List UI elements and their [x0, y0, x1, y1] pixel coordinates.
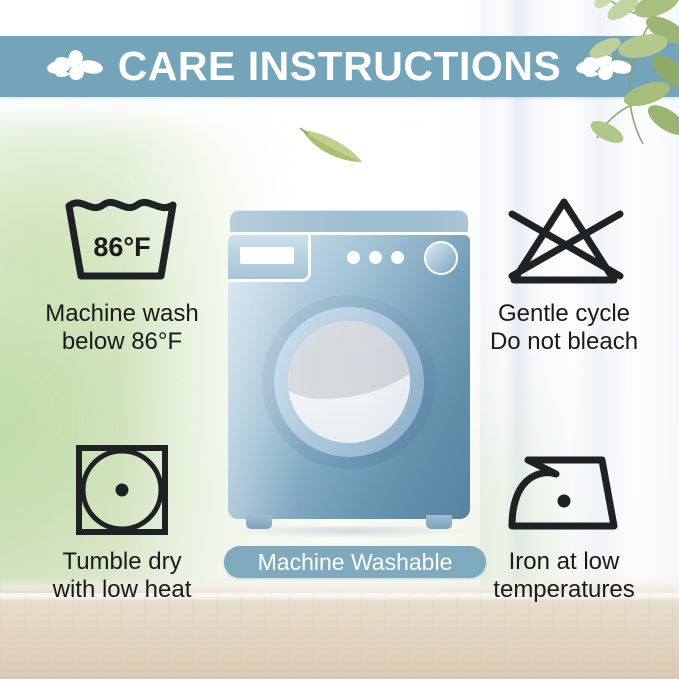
- washer-top-panel: [230, 210, 468, 232]
- no-bleach-triangle-icon: [450, 192, 678, 292]
- care-symbol-caption: Machine wash below 86°F: [8, 300, 236, 357]
- fleur-de-lis-icon-right: [575, 44, 633, 90]
- wash-temperature-value: 86°F: [8, 232, 236, 263]
- washer-door: [262, 295, 436, 469]
- washer-buttons: [347, 251, 404, 264]
- fleur-de-lis-icon-left: [46, 44, 104, 90]
- caption-line-2: Do not bleach: [450, 328, 678, 356]
- washer-button-1: [347, 251, 360, 264]
- caption-line-2: below 86°F: [8, 328, 236, 356]
- washing-machine-illustration: [228, 210, 470, 536]
- care-symbol-iron-low: Iron at low temperatures: [450, 440, 678, 605]
- floating-leaf-icon: [296, 122, 368, 166]
- care-symbol-gentle-no-bleach: Gentle cycle Do not bleach: [450, 192, 678, 357]
- machine-washable-badge: Machine Washable: [224, 546, 486, 578]
- caption-line-1: Gentle cycle: [450, 300, 678, 328]
- caption-line-1: Machine wash: [8, 300, 236, 328]
- wash-tub-icon: 86°F: [8, 192, 236, 292]
- banner-title: CARE INSTRUCTIONS: [104, 46, 576, 87]
- header-banner: CARE INSTRUCTIONS: [0, 36, 679, 97]
- washer-door-glass-shading: [288, 321, 410, 399]
- caption-line-2: with low heat: [8, 576, 236, 604]
- caption-line-1: Tumble dry: [8, 548, 236, 576]
- washer-door-glass: [288, 321, 410, 443]
- washer-button-3: [391, 251, 404, 264]
- machine-washable-badge-label: Machine Washable: [258, 551, 453, 574]
- washer-control-dial: [424, 241, 458, 275]
- care-symbol-tumble-dry: Tumble dry with low heat: [8, 440, 236, 605]
- care-symbol-machine-wash: 86°F Machine wash below 86°F: [8, 192, 236, 357]
- detergent-drawer: [228, 235, 311, 282]
- washer-foot-left: [246, 515, 272, 529]
- washer-button-2: [369, 251, 382, 264]
- detergent-drawer-slot: [240, 247, 294, 264]
- washer-foot-right: [426, 515, 452, 529]
- washer-door-ring: [274, 307, 424, 457]
- care-symbol-caption: Gentle cycle Do not bleach: [450, 300, 678, 357]
- wood-grain-texture: [0, 593, 679, 679]
- care-instructions-infographic: CARE INSTRUCTIONS: [0, 0, 679, 679]
- washer-body: [228, 235, 470, 519]
- iron-low-icon: [450, 440, 678, 540]
- care-symbol-caption: Tumble dry with low heat: [8, 548, 236, 605]
- caption-line-2: temperatures: [450, 576, 678, 604]
- tumble-dry-low-icon: [8, 440, 236, 540]
